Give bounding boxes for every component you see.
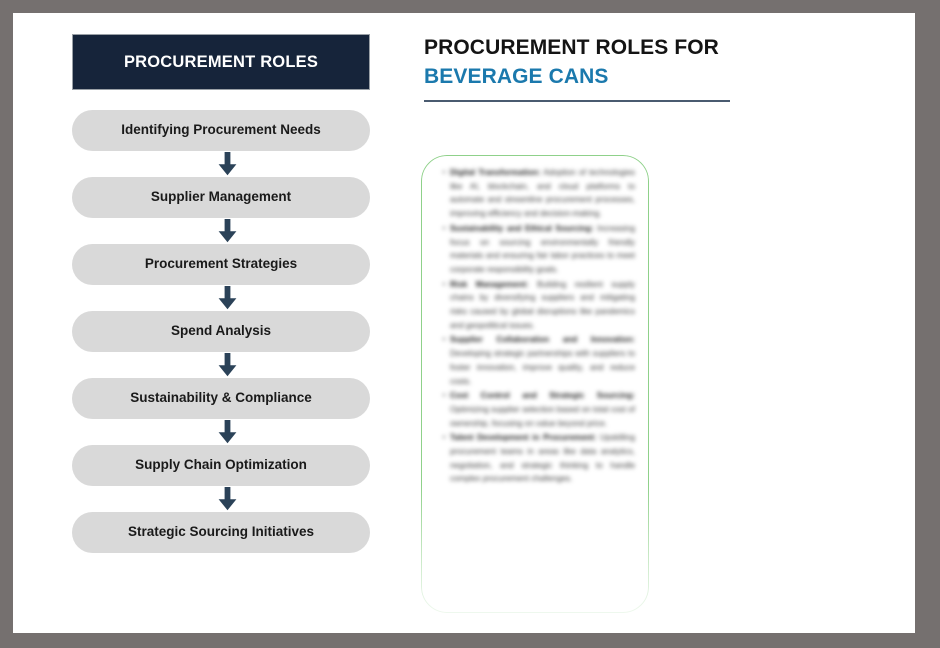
flow-step-label: Strategic Sourcing Initiatives xyxy=(114,525,328,540)
flow-step-supplier-management[interactable]: Supplier Management xyxy=(72,177,370,218)
list-item: Cost Control and Strategic Sourcing: Opt… xyxy=(443,389,635,430)
slide-canvas: PROCUREMENT ROLES Identifying Procuremen… xyxy=(13,13,915,633)
list-item: Talent Development in Procurement: Upski… xyxy=(443,431,635,486)
arrow-down-icon xyxy=(72,486,382,512)
trends-text-block: Digital Transformation: Adoption of tech… xyxy=(443,166,635,487)
flow-step-spend-analysis[interactable]: Spend Analysis xyxy=(72,311,370,352)
flow-step-sustainability-compliance[interactable]: Sustainability & Compliance xyxy=(72,378,370,419)
list-item-text: Optimizing supplier selection based on t… xyxy=(450,405,635,428)
slide-frame: PROCUREMENT ROLES Identifying Procuremen… xyxy=(0,0,940,648)
flow-step-label: Supply Chain Optimization xyxy=(121,458,321,473)
list-item: Digital Transformation: Adoption of tech… xyxy=(443,166,635,221)
flow-step-label: Spend Analysis xyxy=(157,324,285,339)
list-item-term: Sustainability and Ethical Sourcing: xyxy=(450,224,594,233)
arrow-down-icon xyxy=(72,285,382,311)
procurement-flow-chart: PROCUREMENT ROLES Identifying Procuremen… xyxy=(72,34,382,553)
flow-chart-header-label: PROCUREMENT ROLES xyxy=(124,53,318,72)
list-item-term: Talent Development in Procurement: xyxy=(450,433,596,442)
list-item: Sustainability and Ethical Sourcing: Inc… xyxy=(443,222,635,277)
list-item-term: Digital Transformation: xyxy=(450,168,541,177)
flow-step-label: Procurement Strategies xyxy=(131,257,311,272)
flow-step-label: Supplier Management xyxy=(137,190,305,205)
arrow-down-icon xyxy=(72,218,382,244)
arrow-down-icon xyxy=(72,352,382,378)
flow-step-list: Identifying Procurement Needs Supplier M… xyxy=(72,110,382,553)
page-title-accent: BEVERAGE CANS xyxy=(424,65,609,88)
list-item-term: Risk Management: xyxy=(450,280,529,289)
list-item-term: Cost Control and Strategic Sourcing: xyxy=(450,391,635,400)
flow-step-supply-chain-optimization[interactable]: Supply Chain Optimization xyxy=(72,445,370,486)
arrow-down-icon xyxy=(72,419,382,445)
arrow-down-icon xyxy=(72,151,382,177)
title-divider xyxy=(424,100,730,102)
flow-step-procurement-strategies[interactable]: Procurement Strategies xyxy=(72,244,370,285)
flow-step-label: Sustainability & Compliance xyxy=(116,391,326,406)
detail-panel: PROCUREMENT ROLES FOR BEVERAGE CANS Digi… xyxy=(424,34,894,102)
list-item: Supplier Collaboration and Innovation: D… xyxy=(443,333,635,388)
list-item-text: Developing strategic partnerships with s… xyxy=(450,349,635,385)
list-item: Risk Management: Building resilient supp… xyxy=(443,278,635,333)
list-item-term: Supplier Collaboration and Innovation: xyxy=(450,335,635,344)
page-title: PROCUREMENT ROLES FOR BEVERAGE CANS xyxy=(424,34,754,91)
page-title-main: PROCUREMENT ROLES FOR xyxy=(424,36,719,59)
flow-step-strategic-sourcing-initiatives[interactable]: Strategic Sourcing Initiatives xyxy=(72,512,370,553)
flow-chart-header: PROCUREMENT ROLES xyxy=(72,34,370,90)
flow-step-identifying-procurement-needs[interactable]: Identifying Procurement Needs xyxy=(72,110,370,151)
flow-step-label: Identifying Procurement Needs xyxy=(107,123,335,138)
